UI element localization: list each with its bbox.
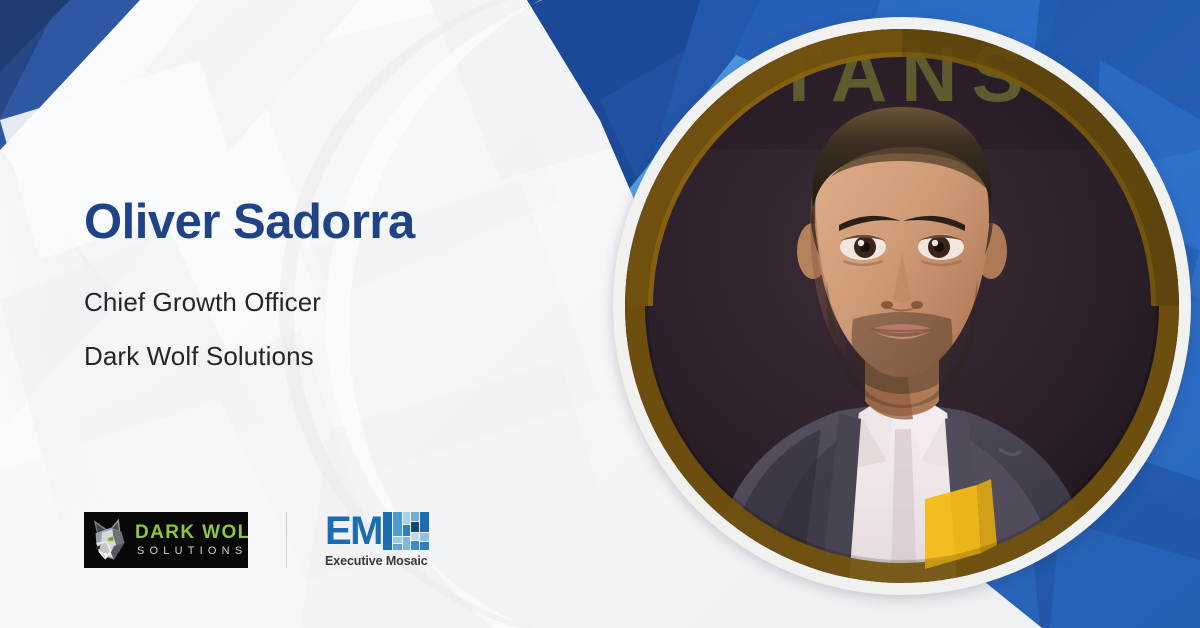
executive-mosaic-letters: EM (325, 512, 382, 552)
executive-mosaic-logo[interactable]: EM Executive Mo (325, 512, 437, 568)
person-company: Dark Wolf Solutions (84, 340, 554, 373)
portrait-container: TANS (613, 17, 1191, 595)
mosaic-grid-icon (383, 512, 429, 550)
executive-mosaic-mark: EM (325, 512, 437, 552)
person-job-title: Chief Growth Officer (84, 286, 554, 319)
person-info-block: Oliver Sadorra Chief Growth Officer Dark… (84, 196, 554, 373)
executive-mosaic-subtitle: Executive Mosaic (325, 554, 437, 568)
dark-wolf-logo-line2: SOLUTIONS (135, 546, 248, 557)
announcement-card: Oliver Sadorra Chief Growth Officer Dark… (0, 0, 1200, 628)
headshot-illustration: TANS (625, 29, 1179, 583)
dark-wolf-solutions-logo[interactable]: DARK WOLF SOLUTIONS (84, 512, 248, 568)
dark-wolf-wordmark: DARK WOLF SOLUTIONS (135, 523, 248, 557)
wolf-head-icon (90, 518, 130, 562)
person-name: Oliver Sadorra (84, 196, 554, 250)
logo-divider (286, 512, 287, 568)
portrait-photo: TANS (625, 29, 1179, 583)
dark-wolf-logo-line1: DARK WOLF (135, 523, 248, 542)
logo-row: DARK WOLF SOLUTIONS EM (84, 512, 437, 568)
